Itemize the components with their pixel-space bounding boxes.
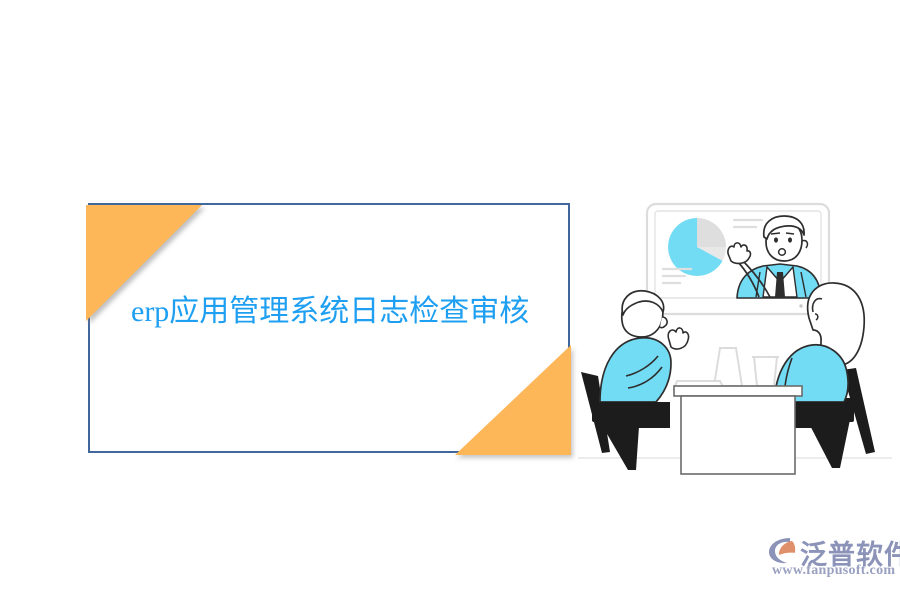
brand-logo[interactable]: 泛普软件 www.fanpusoft.com (766, 533, 896, 585)
coffee-cup (752, 357, 779, 386)
page-title: erp应用管理系统日志检查审核 (131, 292, 576, 332)
corner-triangle-bottom-right (455, 345, 573, 457)
fanpu-circle-mark-icon (766, 535, 800, 565)
logo-url: www.fanpusoft.com (772, 563, 895, 579)
orange-triangle-icon (455, 345, 581, 465)
video-conference-illustration (570, 190, 900, 490)
laptop (674, 348, 742, 389)
pie-chart-icon (668, 218, 726, 276)
conference-table (674, 386, 802, 474)
wall-display-screen (647, 204, 829, 314)
